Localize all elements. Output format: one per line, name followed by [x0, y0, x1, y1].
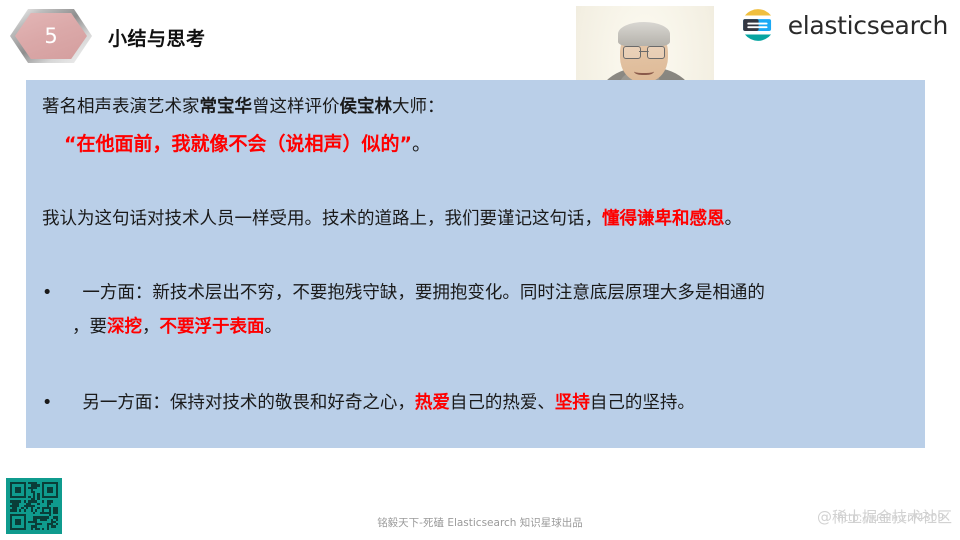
page-title: 小结与思考 — [108, 24, 206, 51]
list-item-continuation: ，要深挖，不要浮于表面。 — [72, 314, 282, 341]
intro-text-part1: 著名相声表演艺术家 — [42, 97, 200, 117]
bullet-1-text-a: 一方面：新技术层出不穷，不要抱残守缺，要拥抱变化。同时注意底层原理大多是相通的 — [82, 280, 765, 307]
elasticsearch-logo-icon — [739, 6, 777, 44]
bullet-2-text-a1: 另一方面：保持对技术的敬畏和好奇之心， — [82, 390, 415, 417]
slide-number-badge: 5 — [10, 9, 92, 63]
list-item: •另一方面：保持对技术的敬畏和好奇之心，热爱自己的热爱、坚持自己的坚持。 — [42, 390, 695, 417]
intro-line: 著名相声表演艺术家常宝华曾这样评价侯宝林大师： — [42, 94, 445, 121]
intro-name-hou: 侯宝林 — [340, 97, 393, 117]
commentary-text-part2: 。 — [725, 209, 743, 229]
bullet-2-highlight-2: 坚持 — [555, 393, 590, 413]
bullet-2-text-a2: 自己的热爱、 — [450, 393, 555, 413]
watermark: @稀土掘金技术社区 http://juejin.cn/4309 — [782, 502, 952, 532]
list-item: •一方面：新技术层出不穷，不要抱残守缺，要拥抱变化。同时注意底层原理大多是相通的 — [42, 280, 765, 307]
quote-open-mark: “ — [64, 133, 77, 155]
elasticsearch-wordmark: elasticsearch — [788, 11, 948, 40]
quote-period: 。 — [412, 133, 431, 155]
smile-icon — [634, 66, 654, 75]
bullet-marker-icon: • — [42, 283, 52, 303]
bullet-2-text-a3: 自己的坚持。 — [590, 393, 695, 413]
bullet-1-text-b2: ， — [142, 317, 160, 337]
hair-shape-icon — [618, 22, 670, 46]
commentary-highlight: 懂得谦卑和感恩 — [602, 209, 725, 229]
bullet-1-text-b1: ，要 — [72, 317, 107, 337]
glasses-icon — [623, 46, 665, 57]
bullet-1-highlight-2: 不要浮于表面 — [160, 317, 265, 337]
quote-line: “在他面前，我就像不会（说相声）似的”。 — [64, 130, 431, 159]
slide-number-label: 5 — [44, 26, 57, 47]
intro-text-part2: 曾这样评价 — [252, 97, 340, 117]
quote-text: 在他面前，我就像不会（说相声）似的 — [77, 133, 400, 155]
bullet-1-text-b3: 。 — [265, 317, 283, 337]
bullet-2-highlight-1: 热爱 — [415, 393, 450, 413]
content-panel: 著名相声表演艺术家常宝华曾这样评价侯宝林大师： “在他面前，我就像不会（说相声）… — [26, 80, 925, 448]
intro-text-part3: 大师： — [392, 97, 445, 117]
quote-close-mark: ” — [400, 133, 413, 155]
commentary-line: 我认为这句话对技术人员一样受用。技术的道路上，我们要谨记这句话，懂得谦卑和感恩。 — [42, 206, 742, 233]
elasticsearch-brand: elasticsearch — [739, 6, 948, 44]
intro-name-chang: 常宝华 — [200, 97, 253, 117]
bullet-1-highlight-1: 深挖 — [107, 317, 142, 337]
watermark-url-label: http://juejin.cn/4309 — [837, 512, 944, 524]
commentary-text-part1: 我认为这句话对技术人员一样受用。技术的道路上，我们要谨记这句话， — [42, 209, 602, 229]
bullet-marker-icon: • — [42, 393, 52, 413]
slide-header: 5 小结与思考 elasticsearch — [0, 0, 960, 64]
